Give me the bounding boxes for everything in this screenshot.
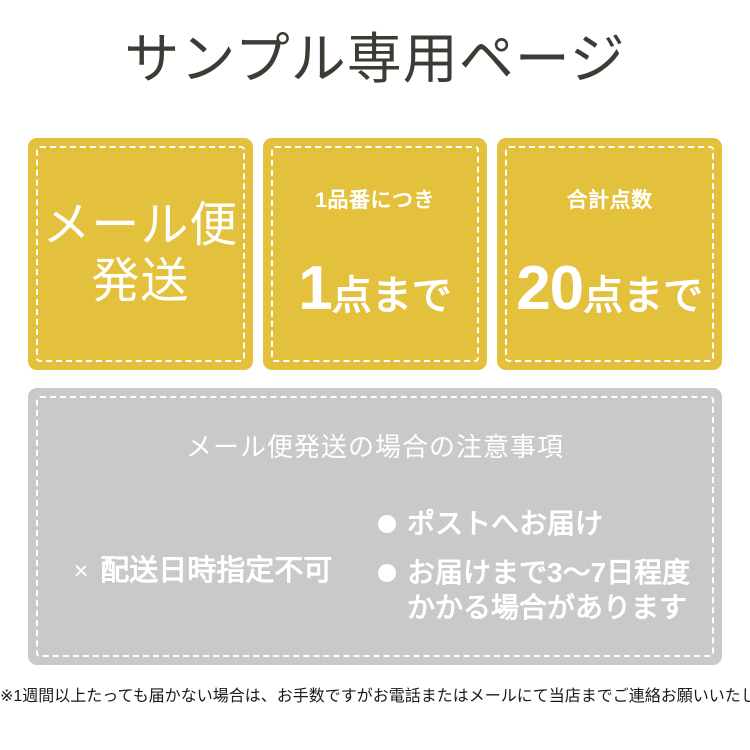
card-per-item-limit-label: 1品番につき [263, 188, 488, 214]
notice-body: × 配送日時指定不可 ポストへお届け お届けまで3〜7日程度 かかる場合がありま… [28, 496, 722, 646]
card-per-item-limit-unit: 点まで [332, 276, 452, 316]
footer-note: ※1週間以上たっても届かない場合は、お手数ですがお電話またはメールにて当店までご… [0, 686, 750, 708]
notice-bullets-column: ポストへお届け お届けまで3〜7日程度 かかる場合があります [378, 496, 722, 639]
notice-panel: メール便発送の場合の注意事項 × 配送日時指定不可 ポストへお届け お届けまで3… [28, 388, 722, 665]
card-shipping-method-line2: 発送 [28, 254, 253, 310]
info-cards-row: メール便 発送 1品番につき 1 点まで 合計点数 20 点まで [28, 138, 722, 370]
card-total-limit-label: 合計点数 [497, 188, 722, 214]
notice-heading: メール便発送の場合の注意事項 [28, 430, 722, 464]
card-total-limit-unit: 点まで [583, 276, 703, 316]
list-item: ポストへお届け [378, 506, 722, 541]
card-per-item-limit-amount: 1 点まで [263, 258, 488, 320]
card-per-item-limit-number: 1 [298, 258, 331, 320]
card-total-limit-amount: 20 点まで [497, 258, 722, 320]
notice-bullet-2-text: お届けまで3〜7日程度 かかる場合があります [407, 555, 690, 625]
card-shipping-method: メール便 発送 [28, 138, 253, 370]
bullet-dot-icon [378, 564, 396, 582]
card-per-item-limit-content: 1品番につき 1 点まで [263, 188, 488, 320]
notice-restriction-item: × 配送日時指定不可 [74, 553, 333, 589]
card-total-limit: 合計点数 20 点まで [497, 138, 722, 370]
bullet-dot-icon [378, 515, 396, 533]
page-title: サンプル専用ページ [0, 24, 750, 94]
notice-restriction-text: 配送日時指定不可 [100, 553, 332, 589]
notice-bullet-2-line1: お届けまで3〜7日程度 [407, 557, 690, 588]
promo-banner: サンプル専用ページ メール便 発送 1品番につき 1 点まで 合計点数 [0, 0, 750, 750]
notice-bullet-2-line2: かかる場合があります [407, 590, 690, 625]
card-per-item-limit: 1品番につき 1 点まで [263, 138, 488, 370]
card-total-limit-number: 20 [516, 258, 583, 320]
cross-icon: × [74, 553, 89, 589]
card-shipping-method-content: メール便 発送 [28, 198, 253, 310]
notice-restriction-column: × 配送日時指定不可 [28, 496, 378, 646]
notice-bullet-1-text: ポストへお届け [407, 506, 603, 541]
card-shipping-method-line1: メール便 [28, 198, 253, 254]
list-item: お届けまで3〜7日程度 かかる場合があります [378, 555, 722, 625]
card-total-limit-content: 合計点数 20 点まで [497, 188, 722, 320]
